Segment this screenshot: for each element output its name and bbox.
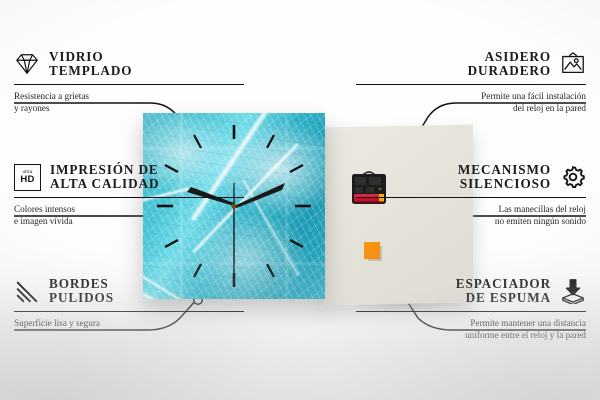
feature-title-line2: DE ESPUMA — [466, 291, 551, 305]
feature-divider — [356, 311, 586, 313]
feature-description: Permite mantener una distancia uniforme … — [356, 317, 586, 341]
feature-description: Resistencia a grietas y rayones — [14, 90, 244, 114]
feature-title-line1: MECANISMO — [458, 163, 551, 177]
foam-spacer — [364, 242, 380, 259]
feature-description: Permite una fácil instalación del reloj … — [356, 90, 586, 114]
feature-title-line1: ESPACIADOR — [456, 277, 551, 291]
feature-mecanismo-silencioso: MECANISMO SILENCIOSO Las manecillas del … — [356, 163, 586, 227]
product-infographic: VIDRIO TEMPLADO Resistencia a grietas y … — [0, 0, 600, 400]
ultra-hd-badge-icon: ultra HD — [14, 164, 41, 191]
feature-title-line2: PULIDOS — [49, 291, 114, 305]
feature-divider — [356, 197, 586, 199]
feature-title-line2: ALTA CALIDAD — [50, 177, 159, 191]
feature-espaciador-de-espuma: ESPACIADOR DE ESPUMA Permite mantener un… — [356, 277, 586, 341]
feature-description: Las manecillas del reloj no emiten ningú… — [356, 203, 586, 227]
hd-badge-large-text: HD — [20, 175, 34, 185]
polished-edges-icon — [14, 278, 40, 304]
feature-title-line1: IMPRESIÓN DE — [50, 163, 159, 177]
foam-spacer-arrow-icon — [560, 278, 586, 304]
feature-vidrio-templado: VIDRIO TEMPLADO Resistencia a grietas y … — [14, 50, 244, 114]
hanging-frame-icon — [560, 51, 586, 77]
feature-divider — [14, 311, 244, 313]
diamond-icon — [14, 51, 40, 77]
feature-title-line1: VIDRIO — [49, 50, 132, 64]
gear-icon — [560, 164, 586, 190]
feature-title-line2: TEMPLADO — [49, 64, 132, 78]
feature-title-line2: DURADERO — [468, 64, 551, 78]
feature-title-line1: ASIDERO — [485, 50, 551, 64]
feature-divider — [356, 84, 586, 86]
feature-title-line1: BORDES — [49, 277, 114, 291]
feature-description: Superficie lisa y segura — [14, 317, 244, 329]
feature-divider — [14, 84, 244, 86]
feature-divider — [14, 197, 244, 199]
feature-description: Colores intensos e imagen vívida — [14, 203, 244, 227]
feature-bordes-pulidos: BORDES PULIDOS Superficie lisa y segura — [14, 277, 244, 329]
feature-asidero-duradero: ASIDERO DURADERO Permite una fácil insta… — [356, 50, 586, 114]
feature-title-line2: SILENCIOSO — [460, 177, 551, 191]
feature-impresion-alta-calidad: ultra HD IMPRESIÓN DE ALTA CALIDAD Color… — [14, 163, 244, 227]
